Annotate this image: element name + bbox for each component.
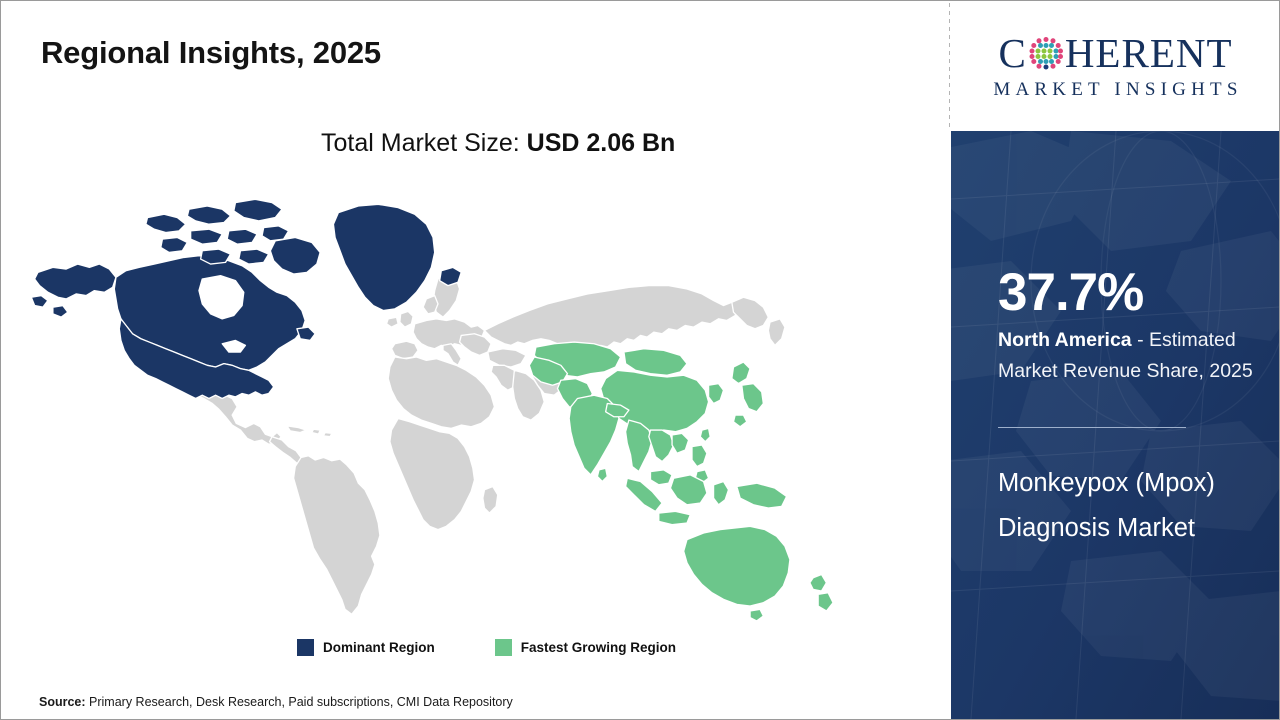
logo-wordmark: C (970, 33, 1262, 74)
source-text: Primary Research, Desk Research, Paid su… (89, 695, 513, 709)
market-size-label: Total Market Size: (321, 129, 520, 157)
total-market-size: Total Market Size: USD 2.06 Bn (321, 129, 675, 158)
globe-dots-icon (1028, 35, 1064, 71)
infographic-page: Regional Insights, 2025 Total Market Siz… (0, 0, 1280, 720)
source-footnote: Source: Primary Research, Desk Research,… (39, 695, 513, 709)
legend-label-fastest-growing: Fastest Growing Region (521, 640, 676, 655)
legend-item-fastest-growing: Fastest Growing Region (495, 639, 676, 656)
legend-swatch-fastest-growing (495, 639, 512, 656)
market-share-description: North America - Estimated Market Revenue… (998, 325, 1264, 387)
panel-content: 37.7% North America - Estimated Market R… (998, 131, 1280, 719)
highlight-panel: 37.7% North America - Estimated Market R… (951, 131, 1280, 719)
brand-logo: C (951, 2, 1280, 131)
market-name-title: Monkeypox (Mpox) Diagnosis Market (998, 461, 1238, 551)
world-map-svg (23, 181, 853, 621)
legend-item-dominant: Dominant Region (297, 639, 435, 656)
logo-word-part1: C (998, 33, 1026, 74)
market-size-value: USD 2.06 Bn (527, 129, 676, 157)
legend-label-dominant: Dominant Region (323, 640, 435, 655)
vertical-divider (949, 3, 950, 131)
page-title: Regional Insights, 2025 (41, 35, 381, 71)
panel-divider-rule (998, 427, 1186, 428)
world-map (23, 181, 853, 621)
map-legend: Dominant Region Fastest Growing Region (297, 639, 676, 656)
left-content-area: Regional Insights, 2025 Total Market Siz… (1, 1, 949, 719)
market-share-percent: 37.7% (998, 266, 1143, 319)
map-fastest-growing-region-asia-pacific (529, 342, 833, 621)
share-region-name: North America (998, 329, 1132, 351)
source-label: Source: (39, 695, 86, 709)
legend-swatch-dominant (297, 639, 314, 656)
logo-tagline: MARKET INSIGHTS (970, 79, 1262, 101)
logo-word-part2: HERENT (1065, 33, 1233, 74)
